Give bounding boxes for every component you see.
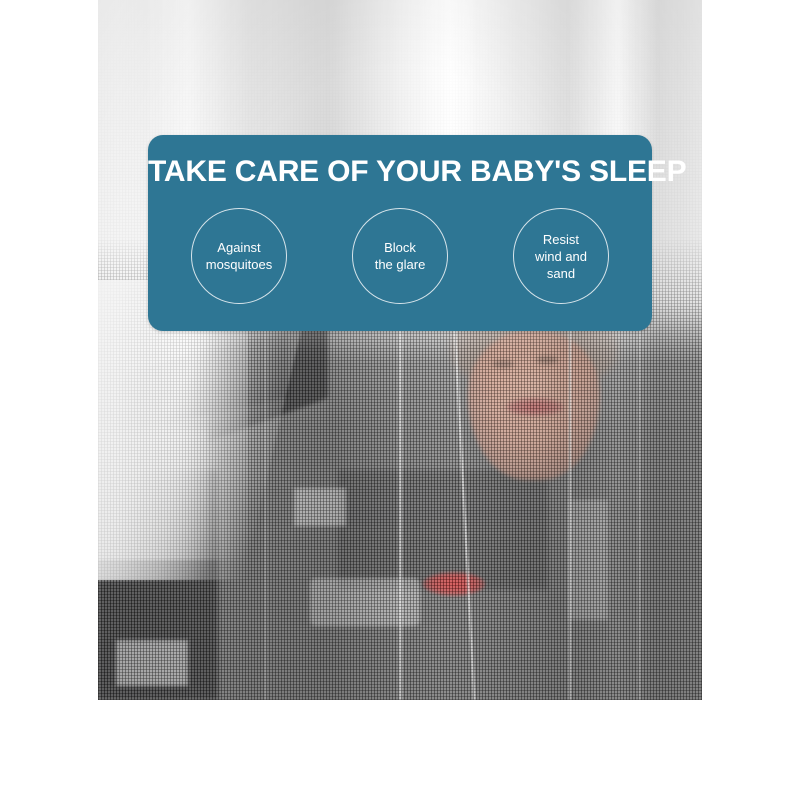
feature-badge-group: Against mosquitoes Block the glare Resis…: [148, 208, 652, 304]
feature-callout-panel: TAKE CARE OF YOUR BABY'S SLEEP Against m…: [148, 135, 652, 331]
feature-badge-label: Resist wind and sand: [529, 231, 593, 282]
feature-badge-resist-wind-and-sand[interactable]: Resist wind and sand: [513, 208, 609, 304]
feature-badge-label: Block the glare: [369, 239, 432, 273]
banner-stage: TAKE CARE OF YOUR BABY'S SLEEP Against m…: [0, 0, 800, 800]
photo-vignette: [98, 0, 702, 700]
feature-badge-against-mosquitoes[interactable]: Against mosquitoes: [191, 208, 287, 304]
feature-badge-block-the-glare[interactable]: Block the glare: [352, 208, 448, 304]
product-photo: [98, 0, 702, 700]
feature-badge-label: Against mosquitoes: [200, 239, 278, 273]
page-title: TAKE CARE OF YOUR BABY'S SLEEP: [148, 155, 652, 189]
